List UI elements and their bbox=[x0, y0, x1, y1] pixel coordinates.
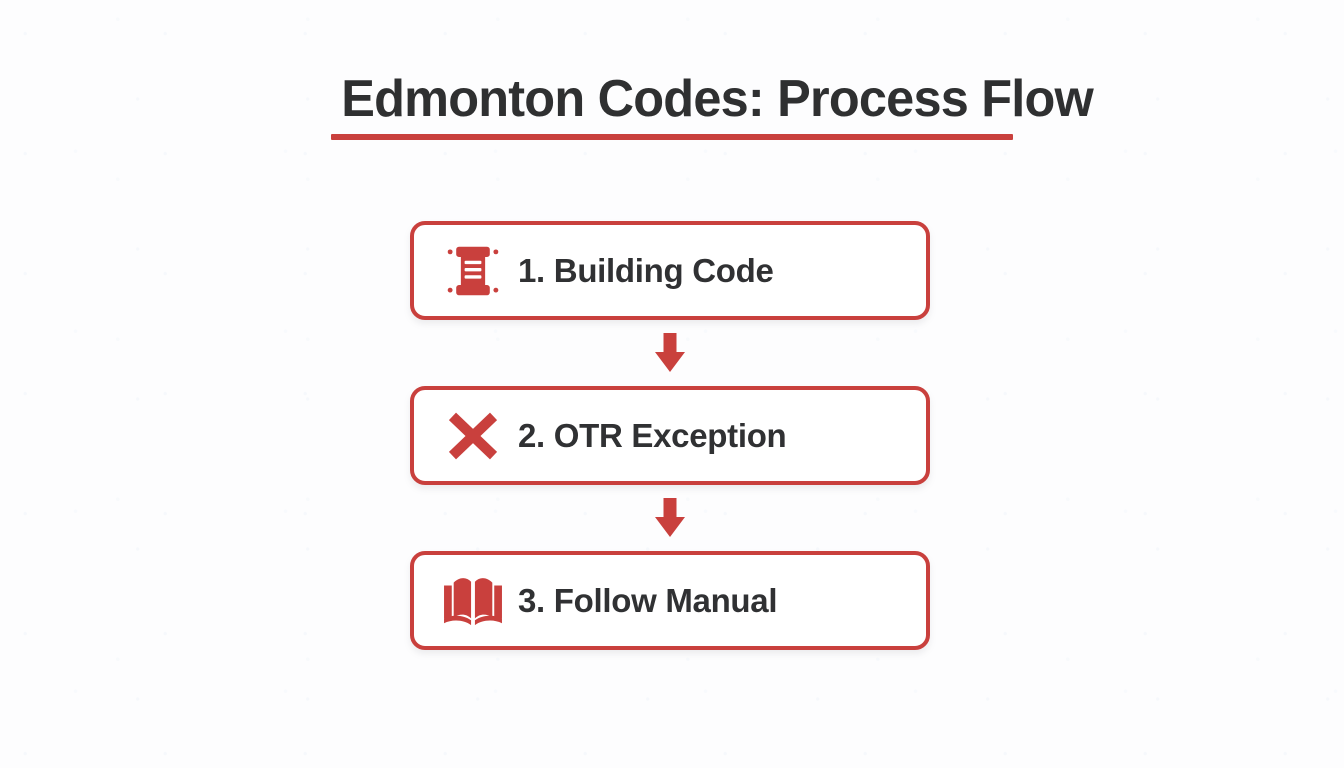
flow-step-2[interactable]: 2. OTR Exception bbox=[410, 386, 930, 485]
flow-step-3[interactable]: 3. Follow Manual bbox=[410, 551, 930, 650]
x-mark-icon bbox=[436, 403, 510, 469]
flow-step-1-label: 1. Building Code bbox=[518, 252, 774, 290]
page-title: Edmonton Codes: Process Flow bbox=[341, 70, 1003, 128]
flow-connector-2 bbox=[410, 485, 930, 551]
scroll-icon bbox=[436, 238, 510, 304]
open-book-icon bbox=[436, 568, 510, 634]
flow-step-3-label: 3. Follow Manual bbox=[518, 582, 777, 620]
flow-step-1[interactable]: 1. Building Code bbox=[410, 221, 930, 320]
title-block: Edmonton Codes: Process Flow bbox=[331, 70, 1013, 140]
flow-connector-1 bbox=[410, 320, 930, 386]
slide-canvas: Edmonton Codes: Process Flow bbox=[0, 0, 1344, 768]
title-underline-rule bbox=[331, 134, 1013, 140]
flow-step-2-label: 2. OTR Exception bbox=[518, 417, 786, 455]
arrow-down-icon bbox=[653, 333, 687, 373]
process-flow: 1. Building Code 2. OTR Exception bbox=[410, 221, 930, 650]
arrow-down-icon bbox=[653, 498, 687, 538]
